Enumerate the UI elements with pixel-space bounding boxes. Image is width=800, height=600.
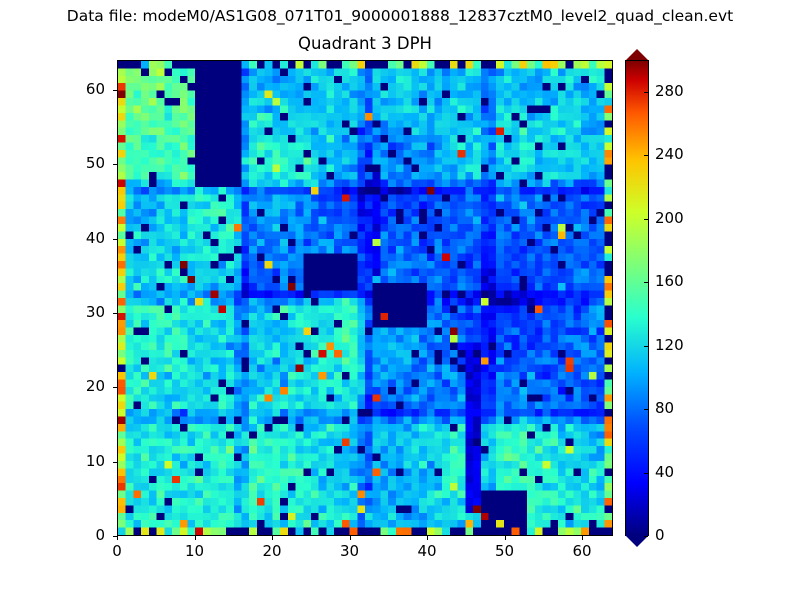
- colorbar: [625, 60, 649, 536]
- y-tick-mark: [113, 313, 117, 314]
- colorbar-tick-mark: [644, 536, 648, 537]
- y-tick-label: 10: [45, 453, 105, 470]
- colorbar-tick-label: 80: [655, 400, 674, 417]
- colorbar-tick-mark: [644, 409, 648, 410]
- x-tick-label: 40: [397, 543, 457, 560]
- y-tick-mark: [113, 387, 117, 388]
- colorbar-tick-label: 280: [655, 83, 684, 100]
- x-tick-mark: [427, 536, 428, 540]
- y-tick-label: 50: [45, 155, 105, 172]
- colorbar-tick-mark: [644, 346, 648, 347]
- data-file-suptitle: Data file: modeM0/AS1G08_071T01_90000018…: [0, 6, 800, 26]
- x-tick-label: 0: [87, 543, 147, 560]
- detector-heatmap-image: [118, 61, 612, 535]
- y-tick-label: 40: [45, 230, 105, 247]
- colorbar-gradient: [625, 60, 649, 536]
- colorbar-tick-label: 200: [655, 210, 684, 227]
- x-tick-label: 30: [320, 543, 380, 560]
- y-tick-label: 30: [45, 304, 105, 321]
- y-tick-mark: [113, 462, 117, 463]
- colorbar-tick-label: 120: [655, 337, 684, 354]
- figure-canvas: Data file: modeM0/AS1G08_071T01_90000018…: [0, 0, 800, 600]
- page-title: Quadrant 3 DPH: [117, 33, 613, 55]
- heatmap-axes: [117, 60, 613, 536]
- y-tick-mark: [113, 536, 117, 537]
- x-tick-mark: [350, 536, 351, 540]
- x-tick-label: 50: [475, 543, 535, 560]
- x-tick-mark: [582, 536, 583, 540]
- x-tick-mark: [272, 536, 273, 540]
- x-tick-label: 60: [552, 543, 612, 560]
- colorbar-tick-mark: [644, 155, 648, 156]
- y-tick-label: 20: [45, 378, 105, 395]
- colorbar-tick-label: 240: [655, 146, 684, 163]
- colorbar-tick-mark: [644, 92, 648, 93]
- colorbar-tick-label: 40: [655, 464, 674, 481]
- colorbar-tick-mark: [644, 473, 648, 474]
- y-tick-label: 60: [45, 81, 105, 98]
- x-tick-mark: [117, 536, 118, 540]
- colorbar-tick-label: 0: [655, 527, 665, 544]
- x-tick-mark: [195, 536, 196, 540]
- colorbar-tick-label: 160: [655, 273, 684, 290]
- y-tick-mark: [113, 164, 117, 165]
- colorbar-tick-mark: [644, 219, 648, 220]
- x-tick-mark: [505, 536, 506, 540]
- y-tick-label: 0: [45, 527, 105, 544]
- colorbar-tick-mark: [644, 282, 648, 283]
- x-tick-label: 10: [165, 543, 225, 560]
- x-tick-label: 20: [242, 543, 302, 560]
- y-tick-mark: [113, 90, 117, 91]
- y-tick-mark: [113, 239, 117, 240]
